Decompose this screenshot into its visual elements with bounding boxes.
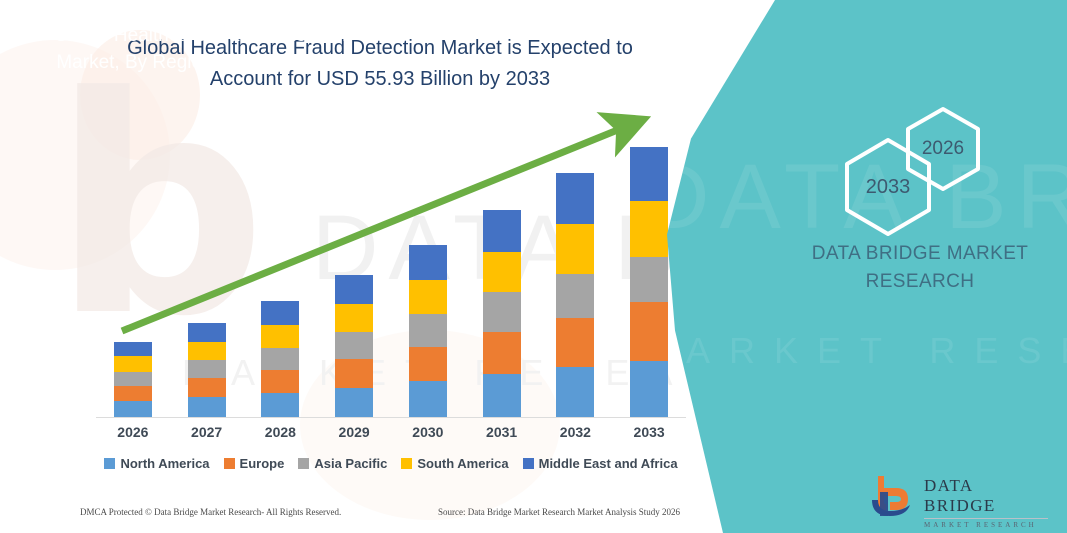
bar-segment (630, 361, 668, 417)
bar-segment (114, 401, 152, 417)
bar-group-2029[interactable] (335, 275, 373, 417)
side-panel-title: Global Healthcare Fraud Detection Market… (40, 22, 360, 76)
bar-group-2033[interactable] (630, 147, 668, 417)
bar-group-2031[interactable] (483, 210, 521, 417)
legend-swatch-icon (298, 458, 309, 469)
bar-group-2028[interactable] (261, 301, 299, 417)
legend-item[interactable]: North America (104, 456, 209, 471)
bar-segment (335, 304, 373, 332)
bar-group-2026[interactable] (114, 342, 152, 417)
bar-segment (556, 173, 594, 223)
logo-wordmark: DATA BRIDGE MARKET RESEARCH (924, 476, 1048, 529)
bar-group-2027[interactable] (188, 323, 226, 417)
bar-segment (556, 367, 594, 417)
legend-label: Middle East and Africa (539, 456, 678, 471)
bar-segment (556, 274, 594, 318)
bar-segment (335, 332, 373, 359)
x-axis-label-2026: 2026 (102, 424, 164, 440)
bar-segment (409, 245, 447, 280)
teal-watermark-line-2: MARKET RESEARCH (637, 330, 1067, 372)
legend-item[interactable]: Europe (224, 456, 285, 471)
bar-segment (335, 359, 373, 387)
bar-segment (556, 224, 594, 274)
bar-segment (188, 323, 226, 342)
company-logo: DATA BRIDGE MARKET RESEARCH (866, 472, 1046, 520)
legend-swatch-icon (224, 458, 235, 469)
legend-label: Asia Pacific (314, 456, 387, 471)
bar-segment (188, 378, 226, 397)
x-axis-label-2030: 2030 (397, 424, 459, 440)
legend-swatch-icon (104, 458, 115, 469)
hexagon-2026-label: 2026 (922, 138, 964, 160)
bar-segment (630, 147, 668, 201)
bar-segment (114, 386, 152, 401)
bar-segment (114, 356, 152, 371)
hexagon-2033-label: 2033 (866, 176, 911, 199)
chart-legend: North AmericaEuropeAsia PacificSouth Ame… (96, 456, 686, 471)
bar-segment (409, 280, 447, 314)
legend-swatch-icon (523, 458, 534, 469)
footer: DMCA Protected © Data Bridge Market Rese… (80, 507, 680, 517)
bar-segment (630, 257, 668, 302)
bar-segment (483, 374, 521, 417)
bar-segment (409, 347, 447, 381)
bar-segment (114, 372, 152, 387)
bar-segment (114, 342, 152, 357)
x-axis-line (96, 417, 686, 418)
bar-segment (409, 381, 447, 417)
bar-segment (483, 332, 521, 374)
bar-segment (630, 302, 668, 362)
footer-copyright: DMCA Protected © Data Bridge Market Rese… (80, 507, 341, 517)
bar-segment (188, 360, 226, 378)
logo-subtitle: MARKET RESEARCH (924, 518, 1048, 529)
legend-item[interactable]: South America (401, 456, 508, 471)
bar-segment (261, 393, 299, 417)
bar-segment (261, 325, 299, 348)
bar-segment (261, 370, 299, 393)
x-axis-label-2029: 2029 (323, 424, 385, 440)
x-axis-label-2027: 2027 (176, 424, 238, 440)
x-axis-label-2032: 2032 (544, 424, 606, 440)
footer-source: Source: Data Bridge Market Research Mark… (438, 507, 680, 517)
legend-swatch-icon (401, 458, 412, 469)
bar-segment (483, 252, 521, 293)
legend-label: Europe (240, 456, 285, 471)
infographic-canvas: b DATA BRIDGE MARKET RESEARCH Global Hea… (0, 0, 1067, 533)
legend-label: North America (120, 456, 209, 471)
x-axis-label-2031: 2031 (471, 424, 533, 440)
brand-name-text: DATA BRIDGE MARKET RESEARCH (790, 240, 1050, 296)
x-axis-labels: 20262027202820292030203120322033 (96, 424, 686, 446)
legend-label: South America (417, 456, 508, 471)
legend-item[interactable]: Middle East and Africa (523, 456, 678, 471)
bar-segment (335, 275, 373, 304)
bar-segment (261, 301, 299, 324)
bar-segment (261, 348, 299, 371)
bar-segment (483, 210, 521, 252)
bar-group-2030[interactable] (409, 245, 447, 417)
bar-segment (335, 388, 373, 417)
bar-segment (483, 292, 521, 332)
x-axis-label-2028: 2028 (249, 424, 311, 440)
bar-segment (188, 342, 226, 361)
bar-segment (556, 318, 594, 367)
logo-title: DATA BRIDGE (924, 476, 1048, 516)
bar-group-2032[interactable] (556, 173, 594, 417)
legend-item[interactable]: Asia Pacific (298, 456, 387, 471)
x-axis-label-2033: 2033 (618, 424, 680, 440)
bar-segment (630, 201, 668, 257)
bar-segment (188, 397, 226, 417)
db-monogram-icon (866, 472, 918, 520)
bar-segment (409, 314, 447, 347)
chart-plot-area (96, 120, 686, 418)
